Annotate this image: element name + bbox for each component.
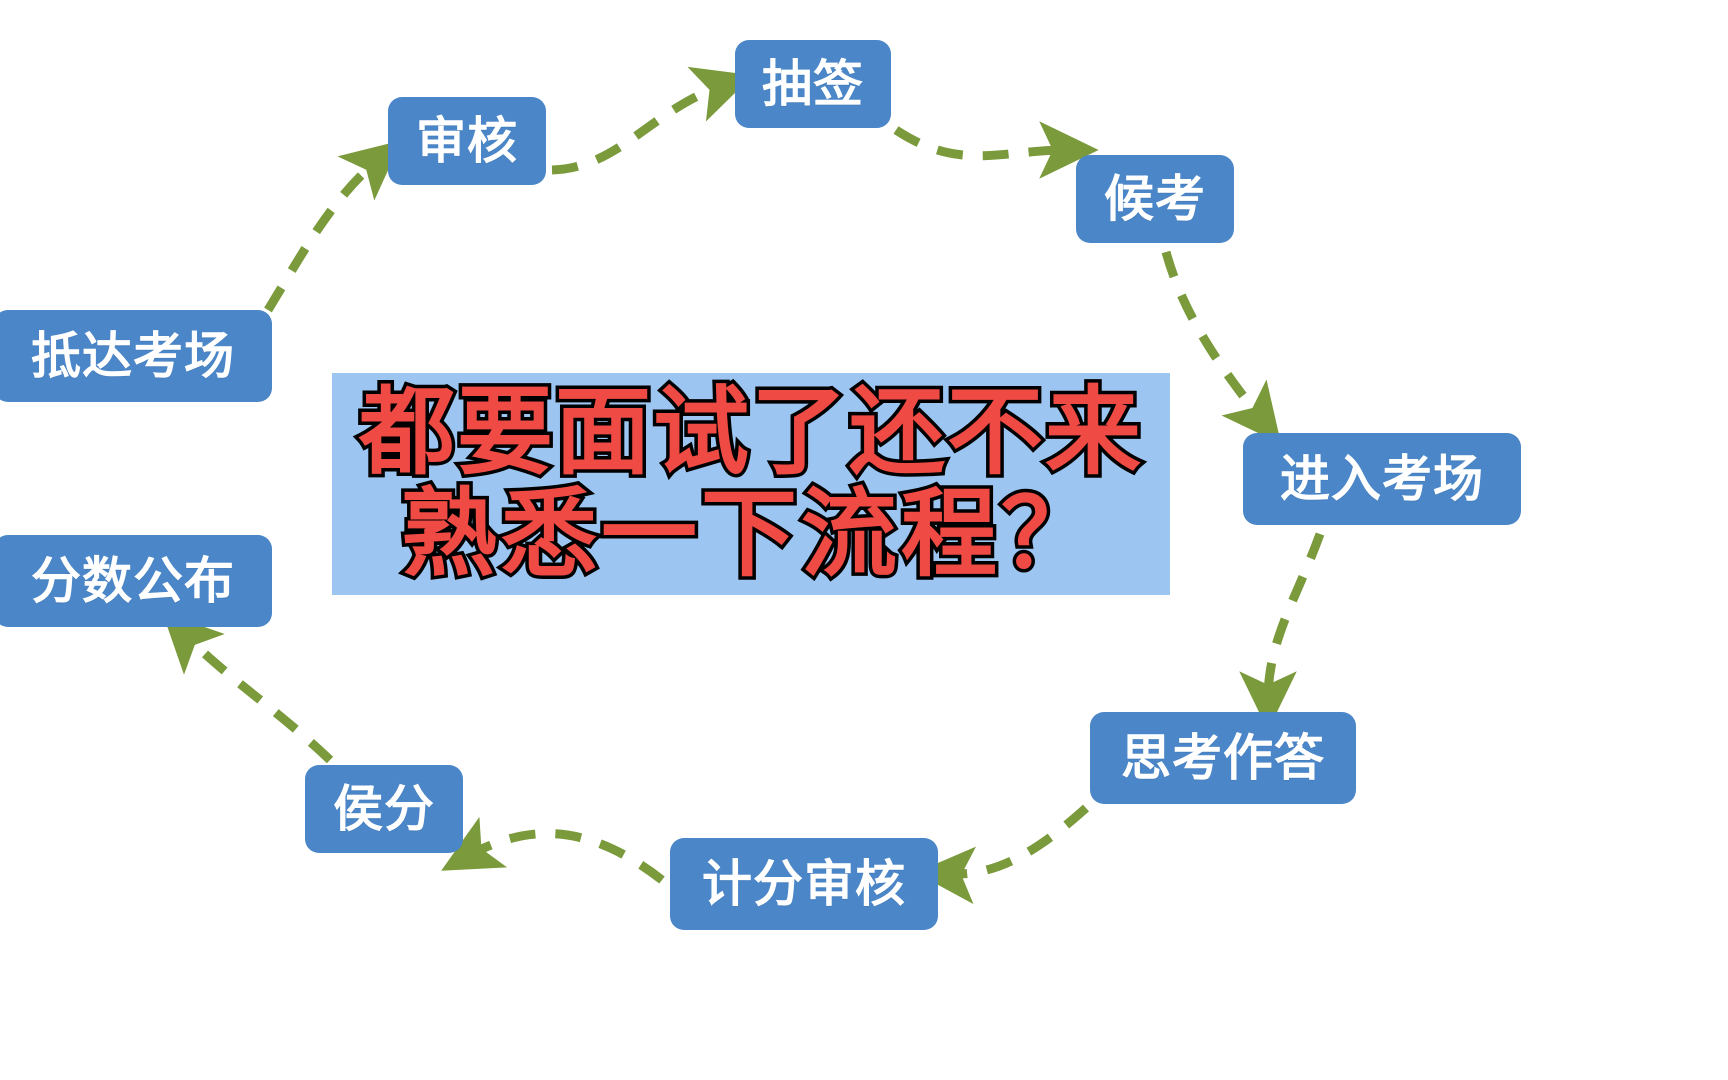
flow-node-review[interactable]: 审核 — [388, 97, 546, 185]
flow-node-label: 审核 — [416, 116, 518, 166]
caption-line-2: 熟悉一下流程？ — [401, 484, 1101, 586]
flow-node-label: 抵达考场 — [31, 331, 235, 381]
flow-node-wait[interactable]: 候考 — [1076, 155, 1234, 243]
flow-node-label: 候考 — [1104, 174, 1206, 224]
edge-draw-to-wait — [896, 130, 1068, 156]
flow-node-label: 思考作答 — [1121, 733, 1325, 783]
flow-node-arrive[interactable]: 抵达考场 — [0, 310, 272, 402]
edge-enter-to-answer — [1268, 534, 1320, 700]
flow-node-publish[interactable]: 分数公布 — [0, 535, 272, 627]
flow-node-label: 侯分 — [333, 784, 435, 834]
edge-review-to-draw — [552, 85, 724, 170]
flow-node-label: 计分审核 — [702, 859, 906, 909]
flow-node-label: 分数公布 — [31, 556, 235, 606]
edge-arrive-to-review — [268, 160, 378, 310]
edge-answer-to-score — [946, 808, 1086, 874]
caption-overlay: 都要面试了还不来 熟悉一下流程？ — [332, 373, 1170, 595]
diagram-canvas: 抵达考场 审核 抽签 候考 进入考场 思考作答 计分审核 侯分 分数公布 都要面… — [0, 0, 1728, 1080]
flow-node-draw[interactable]: 抽签 — [735, 40, 891, 128]
flow-node-enter[interactable]: 进入考场 — [1243, 433, 1521, 525]
flow-node-pending[interactable]: 侯分 — [305, 765, 463, 853]
edge-pending-to-publish — [184, 634, 330, 760]
flow-node-label: 进入考场 — [1280, 454, 1484, 504]
flow-node-label: 抽签 — [762, 59, 864, 109]
edge-wait-to-enter — [1166, 252, 1262, 420]
flow-node-score[interactable]: 计分审核 — [670, 838, 938, 930]
flow-node-answer[interactable]: 思考作答 — [1090, 712, 1356, 804]
caption-line-1: 都要面试了还不来 — [359, 382, 1143, 484]
edge-score-to-pending — [468, 834, 662, 880]
